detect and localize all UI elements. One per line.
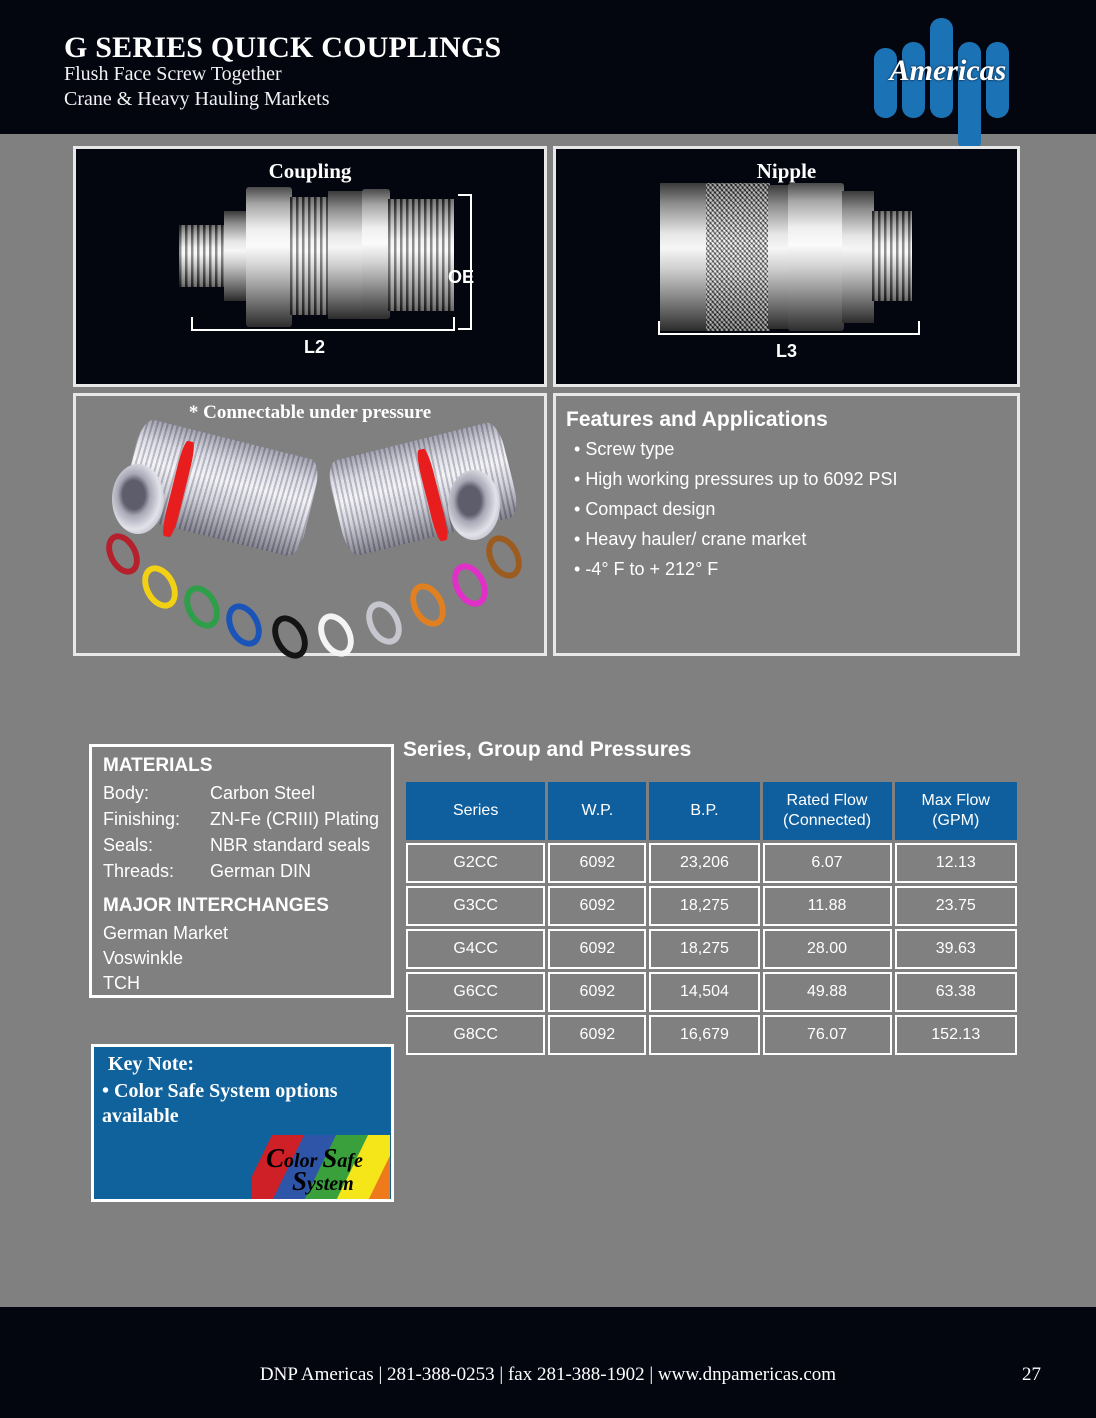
table-row: G4CC 6092 18,275 28.00 39.63 [406,929,1017,969]
nipple-end-cap [660,183,708,331]
color-ring [445,557,495,613]
table-header-row: Series W.P. B.P. Rated Flow (Connected) … [406,782,1017,840]
materials-label-body: Body: [103,783,149,804]
feature-item: Compact design [574,499,897,520]
materials-label-finishing: Finishing: [103,809,180,830]
nipple-knurled-sleeve [706,183,770,331]
coupling-collar [224,211,248,301]
nipple-panel-title: Nipple [556,159,1017,184]
color-ring [99,528,146,581]
cell-rated-flow: 49.88 [763,972,892,1012]
column-header-max-flow: Max Flow (GPM) [895,782,1018,840]
cell-max-flow: 39.63 [895,929,1018,969]
cell-series: G4CC [406,929,545,969]
coupling-panel-title: Coupling [76,159,544,184]
interchange-item: TCH [103,973,140,994]
column-header-series: Series [406,782,545,840]
materials-value-seals: NBR standard seals [210,835,370,856]
materials-value-finishing: ZN-Fe (CRIII) Plating [210,809,379,830]
coupling-oe-dimension-line [458,194,472,330]
feature-item: Screw type [574,439,897,460]
nipple-thread [872,211,912,301]
footer-page-number: 27 [1022,1364,1041,1386]
footer-contact-text: DNP Americas | 281-388-0253 | fax 281-38… [0,1364,1096,1386]
materials-label-seals: Seals: [103,835,153,856]
coupling-thread-left [179,225,227,287]
coupling-thread-right [388,199,454,311]
color-ring [403,577,453,633]
nipple-l3-label: L3 [776,341,797,362]
key-note-title: Key Note: [108,1053,194,1076]
coupling-mid-hex [362,189,390,319]
coupling-hex-nut [246,187,292,327]
nipple-neck [842,191,874,323]
cell-wp: 6092 [548,886,646,926]
nipple-shoulder [768,185,790,329]
coupler-face [112,464,164,534]
coupling-l2-label: L2 [304,337,325,358]
feature-item: High working pressures up to 6092 PSI [574,469,897,490]
feature-item: -4° F to + 212° F [574,559,897,580]
cell-max-flow: 152.13 [895,1015,1018,1055]
cell-bp: 16,679 [649,1015,759,1055]
page-footer: DNP Americas | 281-388-0253 | fax 281-38… [0,1307,1096,1418]
color-ring [135,559,185,615]
page-title: G SERIES QUICK COUPLINGS [64,31,501,65]
cell-rated-flow: 28.00 [763,929,892,969]
page-subtitle-2: Crane & Heavy Hauling Markets [64,88,329,111]
color-ring [265,609,315,665]
cell-bp: 23,206 [649,843,759,883]
key-note-box: Key Note: • Color Safe System options av… [91,1044,394,1202]
features-panel: Features and Applications Screw type Hig… [553,393,1020,656]
nipple-hex-nut [788,183,844,331]
cell-bp: 18,275 [649,929,759,969]
features-title: Features and Applications [566,408,828,432]
cell-series: G3CC [406,886,545,926]
key-note-bullet: • Color Safe System options available [102,1079,390,1129]
cell-wp: 6092 [548,929,646,969]
materials-value-threads: German DIN [210,861,311,882]
cell-series: G2CC [406,843,545,883]
coupling-sleeve [328,191,364,319]
cell-max-flow: 63.38 [895,972,1018,1012]
color-ring [479,529,529,585]
page-subtitle-1: Flush Face Screw Together [64,63,282,86]
series-group-pressures-table: Series W.P. B.P. Rated Flow (Connected) … [403,779,1020,1058]
materials-heading: MATERIALS [103,755,212,777]
major-interchanges-heading: MAJOR INTERCHANGES [103,895,329,917]
interchange-item: German Market [103,923,228,944]
nipple-panel: Nipple L3 [553,146,1020,387]
table-row: G8CC 6092 16,679 76.07 152.13 [406,1015,1017,1055]
cell-rated-flow: 76.07 [763,1015,892,1055]
color-ring [359,595,409,651]
cell-wp: 6092 [548,1015,646,1055]
cell-rated-flow: 6.07 [763,843,892,883]
cell-series: G6CC [406,972,545,1012]
cell-bp: 14,504 [649,972,759,1012]
cell-max-flow: 23.75 [895,886,1018,926]
table-row: G6CC 6092 14,504 49.88 63.38 [406,972,1017,1012]
cell-max-flow: 12.13 [895,843,1018,883]
cell-series: G8CC [406,1015,545,1055]
coupling-panel: Coupling L2 OE [73,146,547,387]
dnp-americas-logo: Americas [856,8,1036,128]
materials-label-threads: Threads: [103,861,174,882]
column-header-wp: W.P. [548,782,646,840]
series-table-title: Series, Group and Pressures [403,738,691,762]
cell-bp: 18,275 [649,886,759,926]
color-safe-line-2: System [292,1166,354,1197]
feature-item: Heavy hauler/ crane market [574,529,897,550]
coupling-body-thread [290,197,330,315]
coupler-face [448,470,500,540]
connectable-under-pressure-title: * Connectable under pressure [76,402,544,424]
color-ring [177,579,227,635]
table-row: G3CC 6092 18,275 11.88 23.75 [406,886,1017,926]
color-safe-wordmark: Color Safe System [252,1135,390,1199]
table-row: G2CC 6092 23,206 6.07 12.13 [406,843,1017,883]
cell-rated-flow: 11.88 [763,886,892,926]
coupling-oe-label: OE [448,267,474,288]
page-header: G SERIES QUICK COUPLINGS Flush Face Scre… [0,0,1096,134]
color-safe-system-logo: Color Safe System [252,1135,390,1199]
nipple-l3-dimension-line [658,321,920,335]
materials-value-body: Carbon Steel [210,783,315,804]
materials-box: MATERIALS Body: Carbon Steel Finishing: … [89,744,394,998]
column-header-bp: B.P. [649,782,759,840]
color-ring [219,597,269,653]
interchange-item: Voswinkle [103,948,183,969]
column-header-rated-flow: Rated Flow (Connected) [763,782,892,840]
logo-wordmark: Americas [868,54,1028,88]
cell-wp: 6092 [548,972,646,1012]
connectable-under-pressure-panel: * Connectable under pressure [73,393,547,656]
coupling-l2-dimension-line [191,317,455,331]
color-ring [311,607,361,663]
cell-wp: 6092 [548,843,646,883]
features-list: Screw type High working pressures up to … [574,439,897,589]
